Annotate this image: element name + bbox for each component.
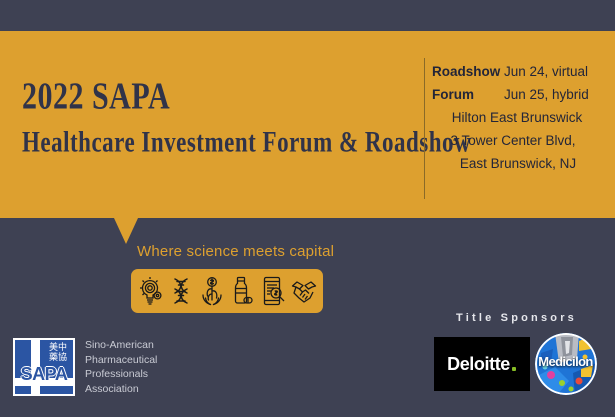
pill-bottle-icon: [229, 276, 255, 306]
sapa-logo: 美中 藥協 SAPA Sino-American Pharmaceutical …: [13, 338, 157, 396]
poster-tagline: Where science meets capital: [137, 243, 334, 260]
sapa-name-line2: Pharmaceutical: [85, 353, 157, 368]
poster-title-subtitle: Healthcare Investment Forum & Roadshow: [22, 127, 417, 156]
detail-label-forum: Forum: [432, 83, 504, 106]
medicilon-wordmark: Medicilon: [535, 354, 597, 369]
poster-title-main: 2022 SAPA: [22, 78, 417, 116]
vertical-divider: [424, 58, 425, 199]
sapa-chinese-line2: 藥協: [43, 353, 73, 363]
sapa-chinese-line1: 美中: [43, 343, 73, 353]
banner-speech-tail: [114, 218, 138, 244]
event-details: Roadshow Jun 24, virtual Forum Jun 25, h…: [432, 60, 608, 175]
venue-city-state: East Brunswick, NJ: [432, 152, 608, 175]
sponsors-section: Title Sponsors Deloitte: [425, 312, 605, 395]
sapa-name-line1: Sino-American: [85, 338, 157, 353]
detail-row-forum: Forum Jun 25, hybrid: [432, 83, 608, 106]
venue-name: Hilton East Brunswick: [432, 106, 608, 129]
handshake-icon: [291, 276, 317, 306]
theme-icon-strip: [131, 269, 323, 313]
sapa-name-line3: Professionals: [85, 367, 157, 382]
sapa-wordmark: SAPA: [15, 364, 73, 385]
medicilon-logo: Medicilon: [535, 333, 597, 395]
detail-value-forum: Jun 25, hybrid: [504, 83, 589, 106]
poster-title-block: 2022 SAPA Healthcare Investment Forum & …: [22, 78, 417, 150]
detail-label-roadshow: Roadshow: [432, 60, 504, 83]
document-search-money-icon: [260, 276, 286, 306]
venue-street: 3 Tower Center Blvd,: [432, 129, 608, 152]
sapa-logo-mark: 美中 藥協 SAPA: [13, 338, 75, 396]
money-plant-hands-icon: [199, 276, 225, 306]
deloitte-logo: Deloitte: [434, 337, 530, 391]
sapa-full-name: Sino-American Pharmaceutical Professiona…: [85, 338, 157, 396]
detail-value-roadshow: Jun 24, virtual: [504, 60, 588, 83]
deloitte-green-dot: [512, 367, 516, 371]
dna-helix-icon: [168, 276, 194, 306]
sapa-name-line4: Association: [85, 382, 157, 397]
sapa-chinese-characters: 美中 藥協: [43, 343, 73, 363]
sponsors-heading: Title Sponsors: [425, 312, 605, 324]
event-poster: 2022 SAPA Healthcare Investment Forum & …: [0, 0, 615, 417]
detail-row-roadshow: Roadshow Jun 24, virtual: [432, 60, 608, 83]
deloitte-wordmark: Deloitte: [447, 354, 510, 375]
lightbulb-target-icon: [137, 276, 163, 306]
sponsor-logo-row: Deloitte: [425, 333, 605, 395]
